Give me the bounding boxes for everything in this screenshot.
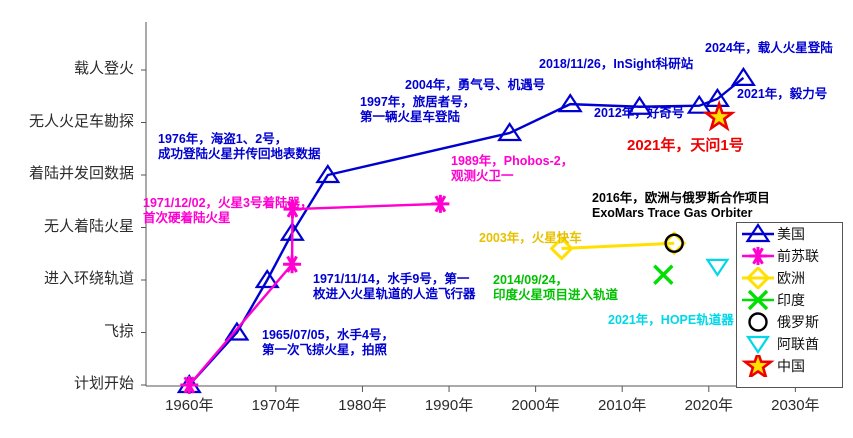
annotation-us-2018: 2018/11/26，InSight科研站 xyxy=(539,57,693,72)
x-axis-tick-label: 1960年 xyxy=(144,397,234,415)
y-axis-tick-label: 无人着陆火星 xyxy=(0,218,134,236)
annotation-line: 首次硬着陆火星 xyxy=(143,211,313,226)
legend-item-俄罗斯[interactable]: 俄罗斯 xyxy=(737,311,842,333)
legend-item-欧洲[interactable]: 欧洲 xyxy=(737,267,842,289)
annotation-line: 1976年，海盗1、2号， xyxy=(158,132,321,147)
legend-item-label: 欧洲 xyxy=(777,268,805,288)
x-axis-tick-label: 2000年 xyxy=(491,397,581,415)
x-axis-tick-label: 1980年 xyxy=(317,397,407,415)
annotation-line: 1971/11/14，水手9号，第一 xyxy=(313,272,476,287)
annotation-line: 2012年，好奇号 xyxy=(594,106,684,121)
x-axis-tick-label: 2010年 xyxy=(577,397,667,415)
annotation-line: 1989年，Phobos-2， xyxy=(451,154,573,169)
legend-item-label: 中国 xyxy=(777,356,805,376)
annotation-line: 2003年，火星快车 xyxy=(479,231,582,246)
annotation-line: 印度火星项目进入轨道 xyxy=(493,288,618,303)
marker-star-icon xyxy=(745,355,771,377)
asterisk-icon xyxy=(741,245,775,267)
annotation-line: 2018/11/26，InSight科研站 xyxy=(539,57,693,72)
x-icon xyxy=(741,289,775,311)
x-axis-tick-label: 1970年 xyxy=(231,397,321,415)
annotation-line: 第一次飞掠火星，拍照 xyxy=(262,343,394,358)
y-axis-tick-label: 飞掠 xyxy=(0,323,134,341)
series-中国 xyxy=(706,104,732,128)
annotation-us-1971: 1971/11/14，水手9号，第一枚进入火星轨道的人造飞行器 xyxy=(313,272,476,302)
legend-item-label: 前苏联 xyxy=(777,246,819,266)
annotation-line: 2021年，毅力号 xyxy=(737,87,827,102)
annotation-us-1965: 1965/07/05，水手4号，第一次飞掠火星，拍照 xyxy=(262,328,394,358)
annotation-line: 第一辆火星车登陆 xyxy=(360,110,475,125)
y-axis-tick-label: 计划开始 xyxy=(0,375,134,393)
legend-item-美国[interactable]: 美国 xyxy=(737,223,842,245)
annotation-line: ExoMars Trace Gas Orbiter xyxy=(592,206,770,221)
annotation-us-1976: 1976年，海盗1、2号，成功登陆火星并传回地表数据 xyxy=(158,132,321,162)
y-axis-tick-label: 着陆并发回数据 xyxy=(0,165,134,183)
annotation-line: 2014/09/24， xyxy=(493,273,618,288)
triangle-down-icon xyxy=(741,333,775,355)
legend-item-中国[interactable]: 中国 xyxy=(737,355,842,377)
legend-item-label: 俄罗斯 xyxy=(777,312,819,332)
y-axis-tick-label: 无人火足车勘探 xyxy=(0,113,134,131)
annotation-us-2024: 2024年，载人火星登陆 xyxy=(705,41,833,56)
annotation-line: 2004年，勇气号、机遇号 xyxy=(405,78,545,93)
marker-star-icon xyxy=(706,104,732,128)
annotation-us-2004: 2004年，勇气号、机遇号 xyxy=(405,78,545,93)
y-axis-tick-label: 载人登火 xyxy=(0,60,134,78)
legend-item-label: 美国 xyxy=(777,224,805,244)
star-icon xyxy=(741,355,775,377)
annotation-us-2012: 2012年，好奇号 xyxy=(594,106,684,121)
legend-item-前苏联[interactable]: 前苏联 xyxy=(737,245,842,267)
annotation-line: 1971/12/02，火星3号着陆器， xyxy=(143,196,313,211)
annotation-line: 2024年，载人火星登陆 xyxy=(705,41,833,56)
annotation-eu-2003: 2003年，火星快车 xyxy=(479,231,582,246)
x-axis-tick-label: 2030年 xyxy=(750,397,840,415)
annotation-line: 成功登陆火星并传回地表数据 xyxy=(158,147,321,162)
diamond-icon xyxy=(741,267,775,289)
marker-asterisk-icon xyxy=(749,247,767,265)
series-印度 xyxy=(654,266,672,284)
x-axis-tick-label: 2020年 xyxy=(664,397,754,415)
annotation-ru-2016: 2016年，欧洲与俄罗斯合作项目ExoMars Trace Gas Orbite… xyxy=(592,191,770,221)
legend-item-label: 印度 xyxy=(777,290,805,310)
legend: 美国前苏联欧洲印度俄罗斯阿联酋中国 xyxy=(736,222,843,388)
legend-item-label: 阿联酋 xyxy=(777,334,819,354)
annotation-su-1971: 1971/12/02，火星3号着陆器，首次硬着陆火星 xyxy=(143,196,313,226)
legend-item-阿联酋[interactable]: 阿联酋 xyxy=(737,333,842,355)
x-axis-tick-label: 1990年 xyxy=(404,397,494,415)
marker-asterisk-icon xyxy=(431,195,449,213)
circle-icon xyxy=(741,311,775,333)
marker-circle-icon xyxy=(750,314,767,331)
annotation-us-1997: 1997年，旅居者号，第一辆火星车登陆 xyxy=(360,95,475,125)
annotation-us-2021: 2021年，毅力号 xyxy=(737,87,827,102)
annotation-line: 2021年，HOPE轨道器 xyxy=(608,313,734,328)
annotation-in-2014: 2014/09/24，印度火星项目进入轨道 xyxy=(493,273,618,303)
y-axis-tick-label: 进入环绕轨道 xyxy=(0,270,134,288)
marker-x-icon xyxy=(654,266,672,284)
annotation-line: 2021年，天问1号 xyxy=(627,137,744,155)
annotation-line: 2016年，欧洲与俄罗斯合作项目 xyxy=(592,191,770,206)
marker-triangle-down-icon xyxy=(748,337,768,352)
series-阿联酋 xyxy=(707,260,727,275)
annotation-line: 1965/07/05，水手4号， xyxy=(262,328,394,343)
triangle-up-icon xyxy=(741,223,775,245)
annotation-line: 1997年，旅居者号， xyxy=(360,95,475,110)
marker-triangle-down-icon xyxy=(707,260,727,275)
legend-item-印度[interactable]: 印度 xyxy=(737,289,842,311)
annotation-line: 观测火卫一 xyxy=(451,169,573,184)
annotation-su-1989: 1989年，Phobos-2，观测火卫一 xyxy=(451,154,573,184)
annotation-cn-2021: 2021年，天问1号 xyxy=(627,137,744,155)
annotation-ae-2021: 2021年，HOPE轨道器 xyxy=(608,313,734,328)
annotation-line: 枚进入火星轨道的人造飞行器 xyxy=(313,287,476,302)
